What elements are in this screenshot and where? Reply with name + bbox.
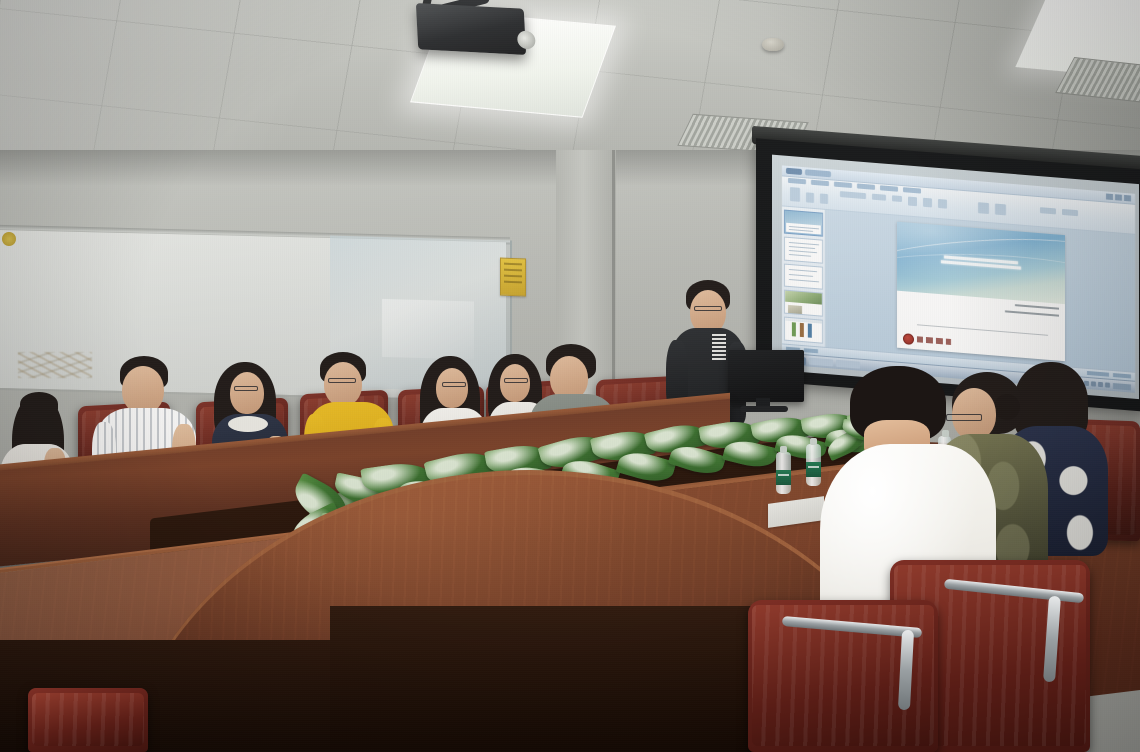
- ribbon-group-font[interactable]: [840, 191, 902, 202]
- ribbon-group-editing[interactable]: [1040, 207, 1078, 216]
- zoom-slider: [1113, 373, 1131, 378]
- glasses-icon: [694, 306, 722, 311]
- slide-thumbnail[interactable]: [784, 236, 823, 263]
- theme-name: [804, 348, 818, 353]
- window-controls[interactable]: [1106, 193, 1131, 201]
- university-crest-icon: [903, 333, 914, 345]
- photo-scene: Conference room academic presentation: [0, 0, 1140, 752]
- slide-header-band: [897, 221, 1065, 304]
- water-bottle[interactable]: [806, 444, 821, 486]
- lanyard-badge: [712, 334, 726, 360]
- slide-thumbnail-panel[interactable]: [782, 206, 826, 347]
- tab-design: [834, 182, 852, 188]
- wall-sticker-icon: [2, 232, 16, 246]
- smoke-detector-icon: [762, 38, 784, 51]
- presentation-window[interactable]: [782, 165, 1135, 392]
- projector-icon: [416, 3, 526, 55]
- yellow-warning-sign: [500, 258, 526, 297]
- water-bottle[interactable]: [776, 452, 791, 494]
- ribbon-group-drawing[interactable]: [978, 202, 1006, 215]
- slide-thumbnail[interactable]: [784, 290, 823, 317]
- slide-byline-line: [1005, 311, 1059, 317]
- minimize-icon: [1106, 193, 1113, 200]
- chair[interactable]: [28, 688, 148, 752]
- slide-divider-rule: [917, 324, 1048, 336]
- slide-thumbnail[interactable]: [784, 210, 823, 237]
- slide-byline-line: [1015, 304, 1059, 310]
- tab-home: [788, 178, 806, 184]
- close-icon: [1124, 195, 1131, 202]
- ribbon-group-paragraph[interactable]: [908, 197, 947, 209]
- ribbon-group-clipboard[interactable]: [790, 187, 828, 204]
- tab-insert: [811, 180, 829, 186]
- current-slide[interactable]: [897, 221, 1065, 361]
- slide-stage[interactable]: [826, 210, 1135, 372]
- slide-thumbnail[interactable]: [784, 317, 823, 344]
- university-wordmark: [917, 336, 951, 345]
- maximize-icon: [1115, 194, 1122, 201]
- slide-thumbnail[interactable]: [784, 263, 823, 290]
- university-logo: [903, 333, 951, 348]
- tab-animations: [857, 183, 875, 189]
- tab-review: [903, 187, 921, 193]
- whiteboard-marker-smudge: [18, 352, 92, 378]
- tab-slideshow: [880, 185, 898, 191]
